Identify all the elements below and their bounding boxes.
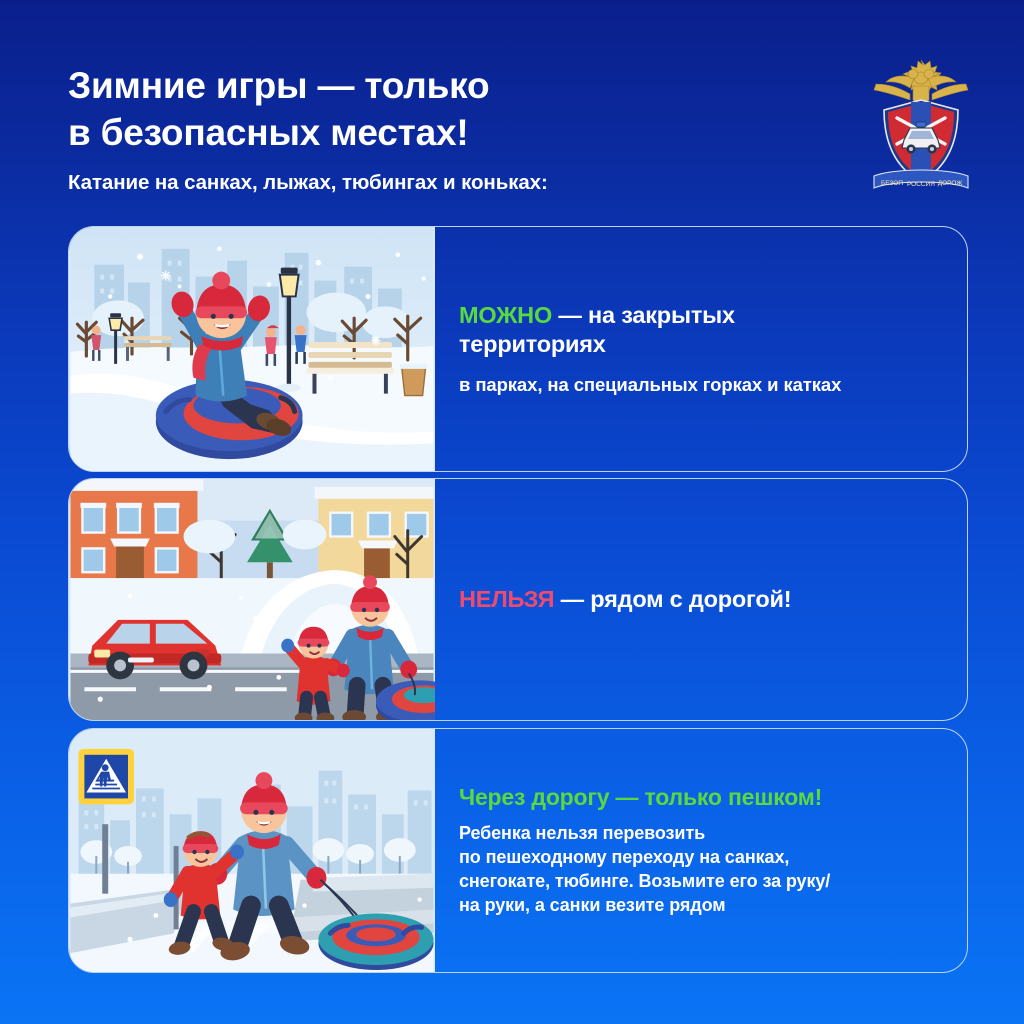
- card-3-heading: Через дорогу — только пешком!: [459, 783, 941, 812]
- emblem-banner-right: ДОРОЖ: [938, 180, 963, 187]
- card-1-body: в парках, на специальных горках и катках: [459, 373, 941, 397]
- card-2-keyword: НЕЛЬЗЯ: [459, 586, 554, 612]
- title-line-2: в безопасных местах!: [68, 109, 858, 156]
- page-subtitle: Катание на санках, лыжах, тюбингах и кон…: [68, 171, 858, 195]
- title-line-1: Зимние игры — только: [68, 62, 858, 109]
- card-3-keyword: Через дорогу — только пешком!: [459, 784, 822, 810]
- emblem-banner-left: БЕЗОП: [881, 180, 903, 187]
- illustration-child-tubing-in-park: [69, 227, 435, 471]
- info-card-forbidden: НЕЛЬЗЯ — рядом с дорогой!: [68, 478, 968, 721]
- russian-traffic-police-emblem-icon: БЕЗОП РОССИЯ ДОРОЖ: [866, 48, 976, 198]
- info-card-allowed: МОЖНО — на закрытых территориях в парках…: [68, 226, 968, 472]
- card-3-body: Ребенка нельзя перевозить по пешеходному…: [459, 822, 941, 918]
- card-2-text-panel: НЕЛЬЗЯ — рядом с дорогой!: [435, 479, 967, 720]
- page-title: Зимние игры — только в безопасных местах…: [68, 62, 858, 157]
- card-2-heading: НЕЛЬЗЯ — рядом с дорогой!: [459, 585, 941, 614]
- card-1-heading-rest-1: — на закрытых: [552, 302, 735, 328]
- card-3-body-line-3: снегокате, тюбинге. Возьмите его за руку…: [459, 870, 941, 894]
- info-card-crosswalk: Через дорогу — только пешком! Ребенка не…: [68, 728, 968, 973]
- card-3-text-panel: Через дорогу — только пешком! Ребенка не…: [435, 729, 967, 972]
- card-1-heading-rest-2: территориях: [459, 331, 606, 357]
- card-1-body-line-1: в парках, на специальных горках и катках: [459, 373, 941, 397]
- illustration-family-near-road-with-car: [69, 479, 435, 720]
- card-3-body-line-1: Ребенка нельзя перевозить: [459, 822, 941, 846]
- card-3-body-line-2: по пешеходному переходу на санках,: [459, 846, 941, 870]
- poster-header: Зимние игры — только в безопасных местах…: [68, 62, 858, 195]
- illustration-family-crossing-crosswalk: [69, 729, 435, 972]
- card-1-heading: МОЖНО — на закрытых территориях: [459, 301, 941, 359]
- card-2-heading-rest-1: — рядом с дорогой!: [554, 586, 791, 612]
- card-3-body-line-4: на руки, а санки везите рядом: [459, 894, 941, 918]
- emblem-banner-center: РОССИЯ: [907, 181, 935, 188]
- card-1-text-panel: МОЖНО — на закрытых территориях в парках…: [435, 227, 967, 471]
- card-1-keyword: МОЖНО: [459, 302, 552, 328]
